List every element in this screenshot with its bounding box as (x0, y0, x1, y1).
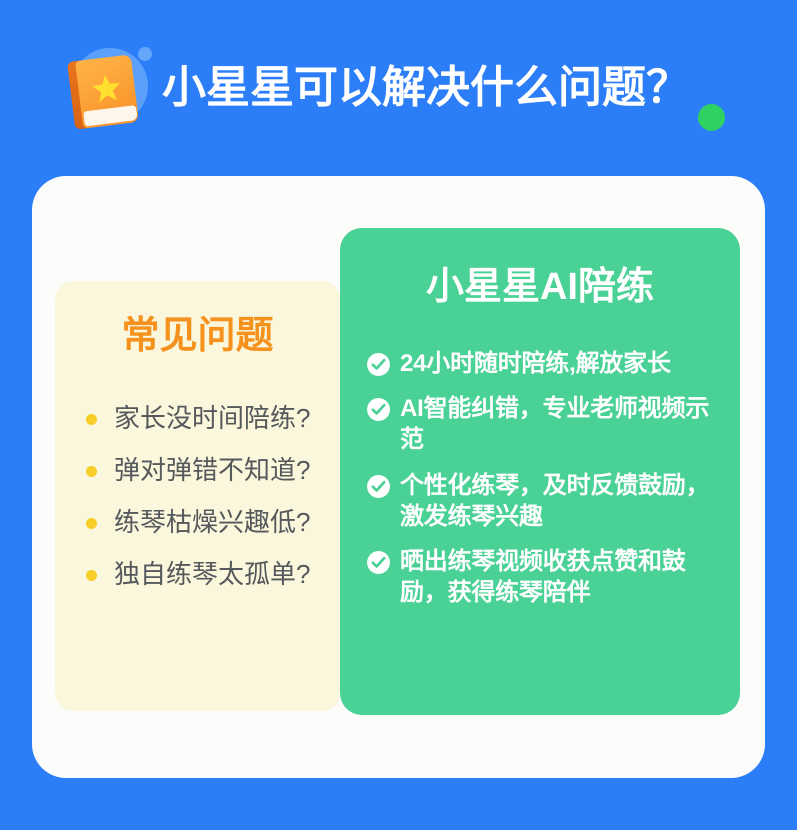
icon-accent-dot (138, 47, 152, 61)
page-header: 小星星可以解决什么问题？ (0, 0, 797, 175)
faq-item-label: 家长没时间陪练? (114, 403, 310, 434)
list-item: 24小时随时陪练,解放家长 (340, 348, 740, 379)
feature-item-label: 24小时随时陪练,解放家长 (400, 348, 671, 379)
bullet-dot-icon (86, 414, 97, 425)
check-circle-icon (366, 550, 391, 575)
book-icon (58, 40, 154, 136)
faq-item-label: 练琴枯燥兴趣低? (114, 507, 310, 538)
book-glyph (67, 54, 139, 129)
bullet-dot-icon (86, 466, 97, 477)
solution-panel-title: 小星星AI陪练 (340, 268, 740, 306)
list-item: 个性化练琴，及时反馈鼓励，激发练琴兴趣 (340, 470, 740, 532)
feature-item-label: 个性化练琴，及时反馈鼓励，激发练琴兴趣 (400, 470, 726, 532)
feature-list: 24小时随时陪练,解放家长 AI智能纠错，专业老师视频示范 个性化练琴，及时反馈… (340, 348, 740, 622)
solution-panel: 小星星AI陪练 24小时随时陪练,解放家长 AI智能纠错，专业老师视频示范 (340, 228, 740, 715)
bullet-dot-icon (86, 518, 97, 529)
list-item: 练琴枯燥兴趣低? (55, 497, 340, 549)
faq-item-label: 独自练琴太孤单? (114, 559, 310, 590)
faq-panel-title: 常见问题 (55, 317, 340, 355)
faq-panel: 常见问题 家长没时间陪练? 弹对弹错不知道? 练琴枯燥兴趣低? 独自练琴太孤单? (55, 281, 340, 711)
page-title: 小星星可以解决什么问题？ (162, 66, 690, 110)
list-item: AI智能纠错，专业老师视频示范 (340, 393, 740, 455)
content-card: 常见问题 家长没时间陪练? 弹对弹错不知道? 练琴枯燥兴趣低? 独自练琴太孤单?… (32, 176, 765, 778)
list-item: 晒出练琴视频收获点赞和鼓励，获得练琴陪伴 (340, 546, 740, 608)
list-item: 弹对弹错不知道? (55, 445, 340, 497)
list-item: 独自练琴太孤单? (55, 549, 340, 601)
list-item: 家长没时间陪练? (55, 393, 340, 445)
check-circle-icon (366, 352, 391, 377)
faq-list: 家长没时间陪练? 弹对弹错不知道? 练琴枯燥兴趣低? 独自练琴太孤单? (55, 393, 340, 601)
faq-item-label: 弹对弹错不知道? (114, 455, 310, 486)
header-green-dot (698, 104, 725, 131)
check-circle-icon (366, 474, 391, 499)
bullet-dot-icon (86, 570, 97, 581)
feature-item-label: 晒出练琴视频收获点赞和鼓励，获得练琴陪伴 (400, 546, 726, 608)
feature-item-label: AI智能纠错，专业老师视频示范 (400, 393, 726, 455)
check-circle-icon (366, 397, 391, 422)
